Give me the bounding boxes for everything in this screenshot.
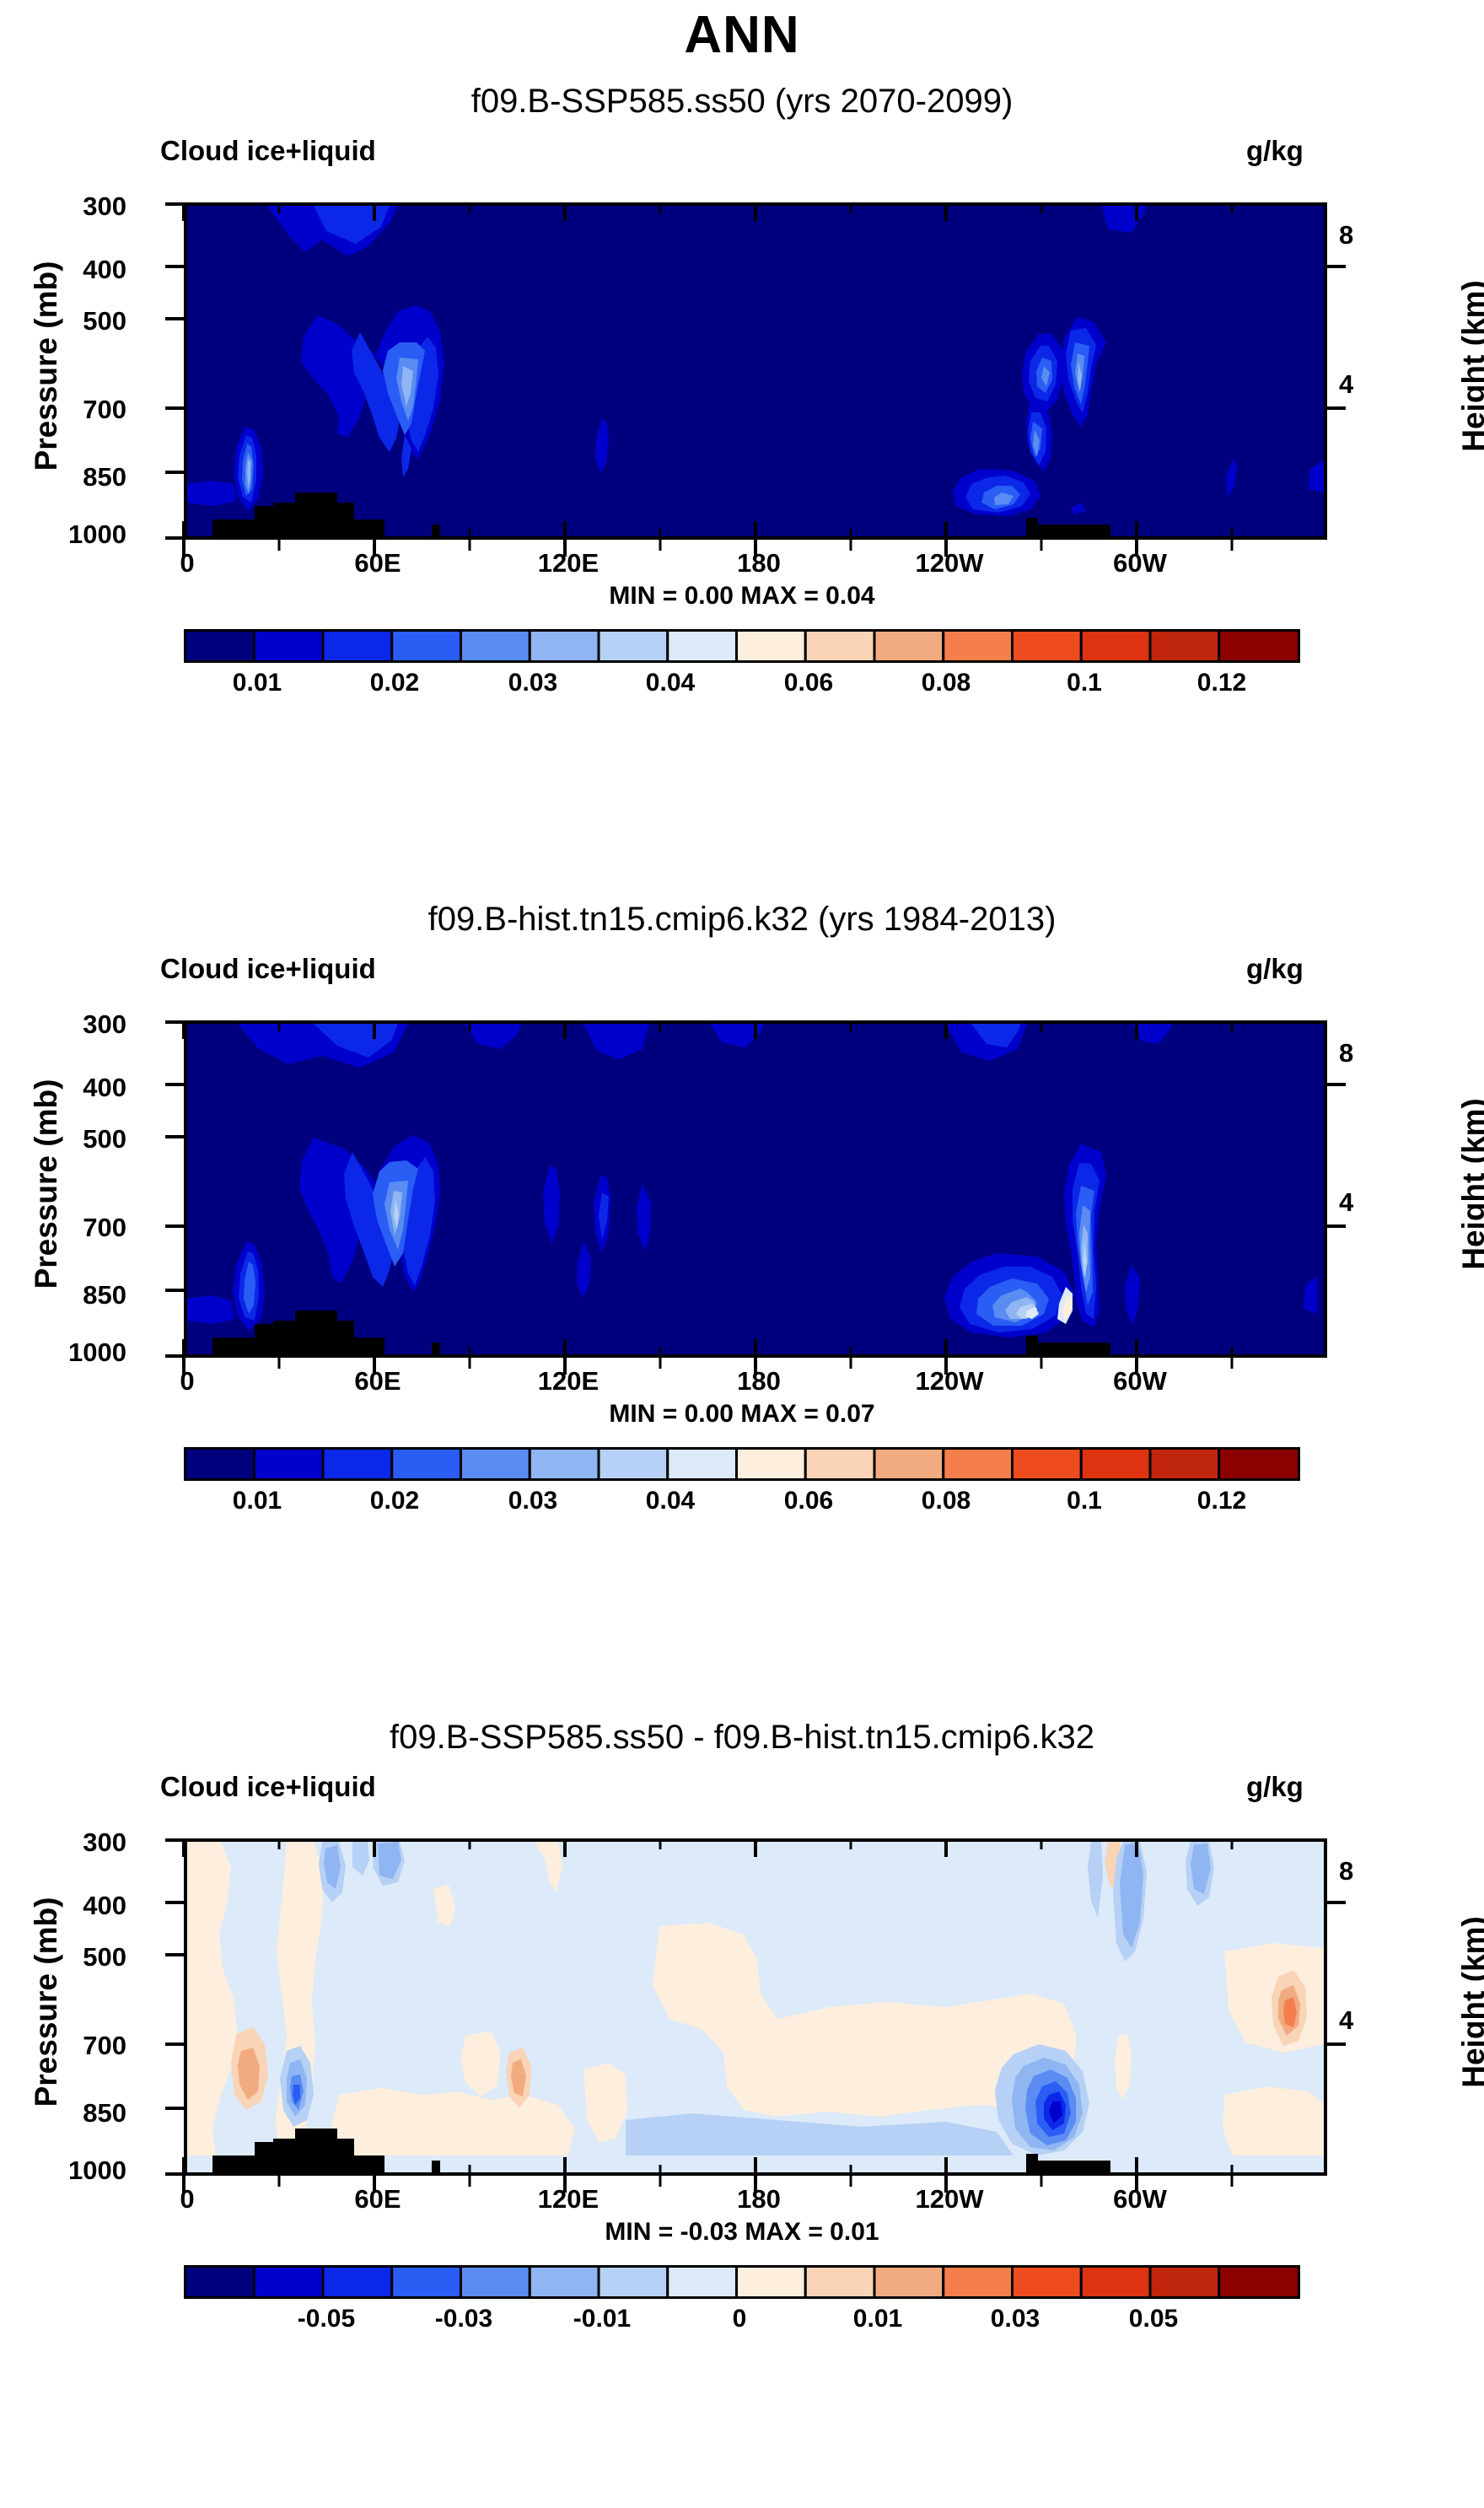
panel-1-cb-label-4: 0.06 (750, 669, 868, 697)
panel-2-contour-field (187, 1024, 1324, 1354)
panel-3-xtick-120E: 120E (509, 2184, 627, 2215)
panel-2-xtick-60E: 60E (319, 1366, 437, 1397)
panel-1-ytick-1000: 1000 (51, 519, 126, 550)
panel-2-cb-label-5: 0.08 (887, 1487, 1005, 1515)
panel-2-cb-label-1: 0.02 (336, 1487, 454, 1515)
panel-1-ytick-700: 700 (51, 395, 126, 425)
panel-1-xtick-60E: 60E (319, 548, 437, 579)
panel-3-cb-label-6: 0.05 (1094, 2305, 1212, 2333)
panel-1-xtick-120E: 120E (509, 548, 627, 579)
panel-2-ytick-300: 300 (51, 1009, 126, 1040)
panel-1-cb-label-7: 0.12 (1163, 669, 1281, 697)
panel-1-cb-label-5: 0.08 (887, 669, 1005, 697)
panel-2-xtick-0: 0 (128, 1366, 246, 1397)
panel-3-units-label: g/kg (1246, 1771, 1304, 1803)
panel-3-xtick-120W: 120W (890, 2184, 1008, 2215)
panel-3-rtick-4: 4 (1339, 2005, 1390, 2036)
panel-2-units-label: g/kg (1246, 953, 1304, 985)
panel-3-cb-label-4: 0.01 (819, 2305, 937, 2333)
panel-1-ytick-400: 400 (51, 255, 126, 285)
panel-2-cb-label-2: 0.03 (474, 1487, 592, 1515)
panel-2-xtick-120W: 120W (890, 1366, 1008, 1397)
panel-1-ytick-300: 300 (51, 191, 126, 222)
panel-2-ytick-500: 500 (51, 1124, 126, 1154)
panel-2-ytick-850: 850 (51, 1280, 126, 1311)
panel-3-xtick-60E: 60E (319, 2184, 437, 2215)
panel-2-cb-label-6: 0.1 (1025, 1487, 1143, 1515)
panel-1-title: f09.B-SSP585.ss50 (yrs 2070-2099) (0, 83, 1484, 121)
panel-3-variable-label: Cloud ice+liquid (160, 1771, 376, 1803)
panel-1-colorbar (184, 629, 1300, 663)
panel-2-rtick-8: 8 (1339, 1038, 1390, 1068)
panel-2-xtick-180: 180 (700, 1366, 818, 1397)
panel-3-cb-label-2: -0.01 (543, 2305, 661, 2333)
panel-2-ytick-1000: 1000 (51, 1337, 126, 1368)
panel-2-plot-area (184, 1020, 1327, 1358)
panel-1-xtick-60W: 60W (1081, 548, 1199, 579)
panel-1-colorbar-swatches (184, 629, 1300, 663)
panel-2-raxis-title: Height (km) (1456, 1066, 1484, 1302)
panel-1-minmax-text: MIN = 0.00 MAX = 0.04 (0, 582, 1484, 611)
panel-2-title: f09.B-hist.tn15.cmip6.k32 (yrs 1984-2013… (0, 901, 1484, 939)
panel-1: f09.B-SSP585.ss50 (yrs 2070-2099) Cloud … (0, 83, 1484, 892)
panel-3-ytick-300: 300 (51, 1827, 126, 1858)
panel-2-xtick-60W: 60W (1081, 1366, 1199, 1397)
panel-1-xtick-180: 180 (700, 548, 818, 579)
panel-3-xtick-60W: 60W (1081, 2184, 1199, 2215)
panel-3-xtick-180: 180 (700, 2184, 818, 2215)
panel-3-cb-label-3: 0 (680, 2305, 798, 2333)
panel-3-colorbar (184, 2265, 1300, 2299)
panel-2: f09.B-hist.tn15.cmip6.k32 (yrs 1984-2013… (0, 901, 1484, 1710)
panel-1-ytick-850: 850 (51, 462, 126, 492)
panel-2-colorbar (184, 1447, 1300, 1481)
panel-1-variable-label: Cloud ice+liquid (160, 135, 376, 167)
panel-2-cb-label-4: 0.06 (750, 1487, 868, 1515)
panel-2-xtick-120E: 120E (509, 1366, 627, 1397)
panel-3-contour-field (187, 1842, 1324, 2172)
panel-1-contour-field (187, 206, 1324, 536)
panel-1-cb-label-2: 0.03 (474, 669, 592, 697)
panel-2-rtick-4: 4 (1339, 1187, 1390, 1218)
panel-3-colorbar-swatches (184, 2265, 1300, 2299)
panel-1-rtick-8: 8 (1339, 220, 1390, 250)
panel-3-rtick-8: 8 (1339, 1856, 1390, 1886)
panel-3-minmax-text: MIN = -0.03 MAX = 0.01 (0, 2218, 1484, 2247)
panel-1-ytick-500: 500 (51, 306, 126, 336)
panel-1-cb-label-0: 0.01 (198, 669, 316, 697)
panel-2-cb-label-3: 0.04 (611, 1487, 729, 1515)
panel-3-raxis-title: Height (km) (1456, 1884, 1484, 2120)
panel-3-ytick-1000: 1000 (51, 2155, 126, 2186)
panel-1-cb-label-1: 0.02 (336, 669, 454, 697)
panel-3: f09.B-SSP585.ss50 - f09.B-hist.tn15.cmip… (0, 1719, 1484, 2508)
panel-2-ytick-400: 400 (51, 1073, 126, 1103)
panel-2-cb-label-0: 0.01 (198, 1487, 316, 1515)
panel-3-ytick-700: 700 (51, 2031, 126, 2061)
panel-3-ytick-400: 400 (51, 1891, 126, 1921)
panel-2-minmax-text: MIN = 0.00 MAX = 0.07 (0, 1400, 1484, 1429)
panel-2-variable-label: Cloud ice+liquid (160, 953, 376, 985)
panel-1-raxis-title: Height (km) (1456, 248, 1484, 484)
panel-1-plot-area (184, 202, 1327, 540)
panel-1-units-label: g/kg (1246, 135, 1304, 167)
panel-1-xtick-120W: 120W (890, 548, 1008, 579)
panel-1-rtick-4: 4 (1339, 369, 1390, 400)
panel-3-xtick-0: 0 (128, 2184, 246, 2215)
panel-3-cb-label-0: -0.05 (267, 2305, 385, 2333)
panel-1-cb-label-3: 0.04 (611, 669, 729, 697)
panel-2-colorbar-swatches (184, 1447, 1300, 1481)
panel-1-xtick-0: 0 (128, 548, 246, 579)
panel-3-ytick-500: 500 (51, 1942, 126, 1972)
figure-main-title: ANN (0, 5, 1484, 65)
panel-1-cb-label-6: 0.1 (1025, 669, 1143, 697)
panel-3-cb-label-5: 0.03 (956, 2305, 1074, 2333)
panel-3-plot-area (184, 1838, 1327, 2176)
panel-3-cb-label-1: -0.03 (405, 2305, 523, 2333)
panel-3-ytick-850: 850 (51, 2098, 126, 2129)
panel-3-title: f09.B-SSP585.ss50 - f09.B-hist.tn15.cmip… (0, 1719, 1484, 1757)
panel-2-ytick-700: 700 (51, 1213, 126, 1243)
panel-2-cb-label-7: 0.12 (1163, 1487, 1281, 1515)
